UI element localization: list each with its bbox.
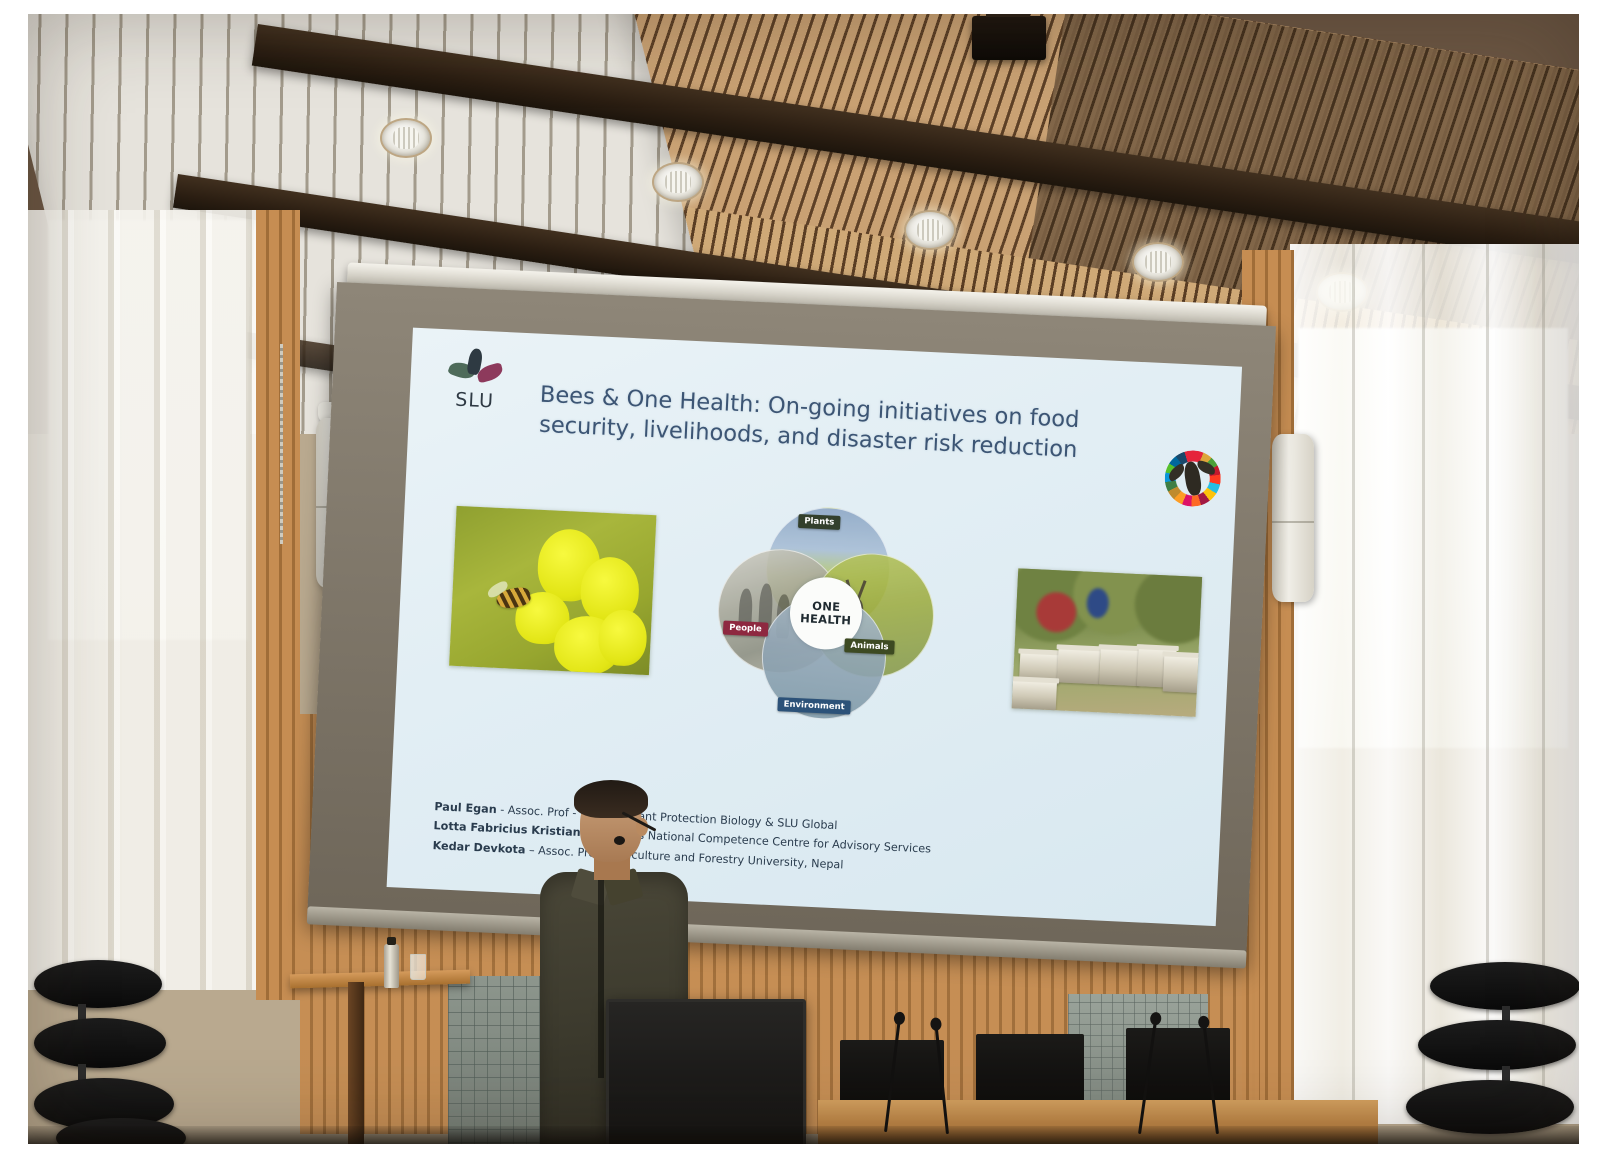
author-name: Kedar Devkota [432, 839, 525, 856]
projection-screen-surface: SLU Bees & One Health: On-going initiati… [387, 328, 1242, 926]
beehive [1012, 680, 1057, 710]
beehive-lid [1137, 644, 1179, 651]
presentation-slide: SLU Bees & One Health: On-going initiati… [387, 328, 1242, 926]
lecture-hall-photograph: SLU Bees & One Health: On-going initiati… [28, 14, 1579, 1144]
left-window-with-blinds [28, 210, 260, 990]
ceiling-downlight-4 [1132, 242, 1184, 282]
beehive [1163, 655, 1201, 693]
slu-logo: SLU [443, 347, 508, 416]
wall-pillar-left [256, 210, 300, 1000]
stacked-chairs-right[interactable] [1406, 962, 1579, 1144]
author-name: Paul Egan [434, 800, 497, 816]
downlight-lamp-glyph [393, 127, 419, 149]
laptop[interactable] [976, 1034, 1084, 1110]
venn-label-animals: Animals [844, 638, 895, 654]
beehive-lid [1012, 676, 1059, 683]
downlight-lamp-glyph [1145, 251, 1171, 273]
laptop[interactable] [1126, 1028, 1230, 1106]
chair-seat [1418, 1020, 1576, 1070]
chair-seat [34, 1018, 166, 1068]
beehive [1099, 648, 1141, 686]
slide-image-bee-on-rapeseed [449, 506, 656, 675]
venn-label-plants: Plants [798, 514, 841, 530]
headset-microphone-capsule [614, 836, 625, 845]
downlight-lamp-glyph [665, 171, 691, 193]
laptop-lid [976, 1034, 1084, 1110]
flower-cluster [597, 609, 648, 667]
projection-screen-assembly: SLU Bees & One Health: On-going initiati… [306, 262, 1277, 986]
slide-title: Bees & One Health: On-going initiatives … [528, 379, 1090, 466]
beehive-lid [1162, 651, 1202, 658]
venn-label-environment: Environment [777, 697, 851, 714]
beehive-lid [1057, 644, 1103, 651]
sdg-wheel-icon [1163, 449, 1222, 508]
presenter-hair [574, 780, 648, 818]
foreground-shadow [28, 1126, 1579, 1144]
confidence-monitor [606, 999, 806, 1144]
one-health-venn-diagram: ONE HEALTH Plants People Animals Environ… [713, 502, 939, 724]
ceiling-downlight-3 [904, 210, 956, 250]
beehive-lid [1018, 648, 1062, 655]
slu-clover-icon [448, 347, 504, 389]
stacked-chairs-left[interactable] [34, 960, 204, 1144]
slide-image-apiary [1012, 568, 1202, 717]
presenter-shirt-placket [598, 878, 604, 1078]
blind-chain[interactable] [280, 344, 283, 544]
chair-seat [34, 960, 162, 1008]
water-bottle[interactable] [384, 944, 399, 988]
ceiling-downlight-2 [652, 162, 704, 202]
lectern-post [348, 982, 364, 1144]
vertical-blinds-left[interactable] [28, 210, 260, 990]
chair-seat [1430, 962, 1579, 1010]
laptop-lid [1126, 1028, 1230, 1106]
projection-screen-frame: SLU Bees & One Health: On-going initiati… [307, 282, 1276, 966]
wall-speaker-right [1272, 434, 1314, 602]
ceiling-projector [972, 16, 1046, 60]
venn-label-people: People [723, 621, 768, 637]
foliage [1133, 568, 1202, 645]
slu-wordmark: SLU [443, 388, 506, 413]
venn-center-line-2: HEALTH [800, 611, 852, 627]
ceiling-downlight-1 [380, 118, 432, 158]
curtain-fold [1352, 244, 1355, 1124]
drinking-glass[interactable] [410, 954, 426, 980]
beehive [1057, 648, 1101, 684]
downlight-lamp-glyph [917, 219, 943, 241]
